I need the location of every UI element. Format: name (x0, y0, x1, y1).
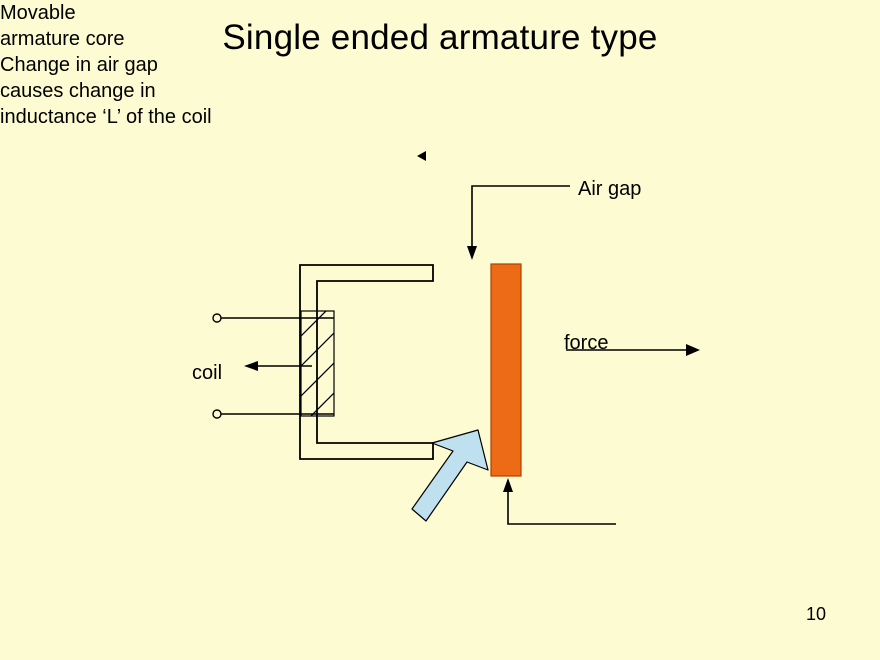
small-triangle-marker (417, 151, 426, 161)
coil-terminal-top (213, 314, 221, 322)
movable-core-arrowhead-icon (503, 478, 513, 492)
diagram-canvas (0, 0, 880, 660)
hatched-coil-winding (296, 296, 341, 461)
slide: Single ended armature type (0, 0, 880, 660)
air-gap-arrowhead-icon (467, 246, 477, 260)
air-gap-label: Air gap (578, 176, 641, 202)
force-arrowhead-icon (686, 344, 700, 356)
coil-label-arrowhead-icon (244, 361, 258, 371)
page-number: 10 (806, 604, 826, 625)
air-gap-leader-line (472, 186, 570, 248)
coil-label: coil (192, 360, 222, 386)
force-label: force (564, 330, 608, 356)
c-shaped-core (300, 265, 433, 459)
coil-terminal-bottom (213, 410, 221, 418)
movable-core-leader-line (508, 490, 616, 524)
movable-armature-core-block (491, 264, 521, 476)
